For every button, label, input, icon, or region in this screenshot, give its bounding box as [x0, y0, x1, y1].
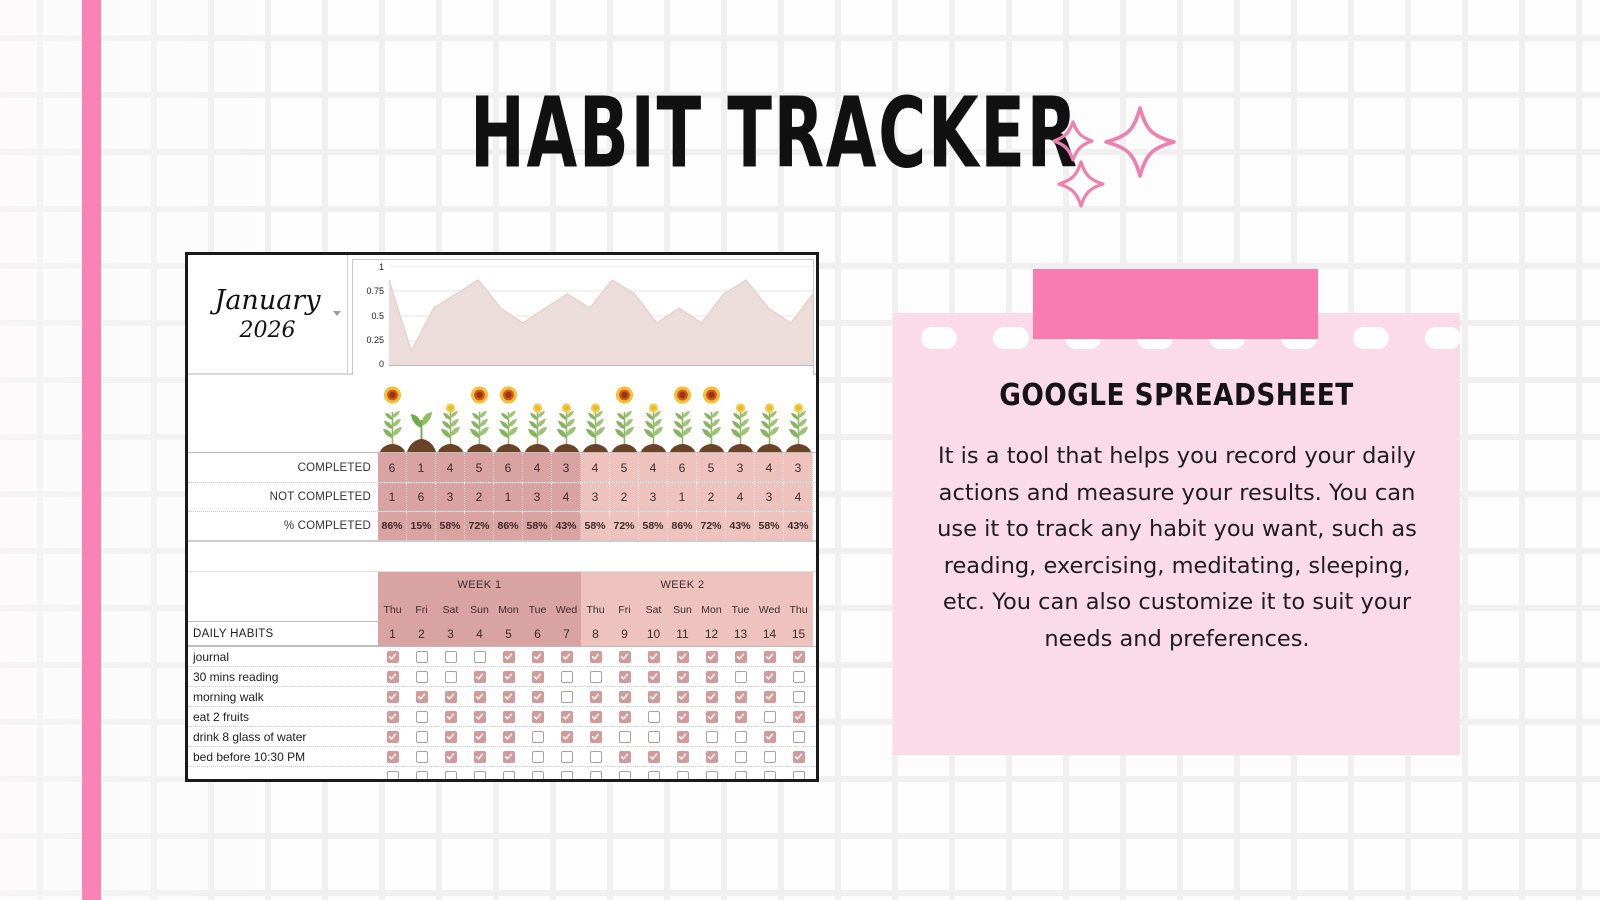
checkbox-checked-icon[interactable]	[503, 671, 515, 683]
habit-checkbox-cell[interactable]	[436, 707, 465, 726]
checkbox-checked-icon[interactable]	[619, 711, 631, 723]
day-number-cell: 11	[668, 621, 697, 646]
checkbox-checked-icon[interactable]	[764, 731, 776, 743]
habit-checkbox-cell[interactable]	[639, 767, 668, 782]
checkbox-unchecked-icon[interactable]	[764, 751, 776, 763]
checkbox-checked-icon[interactable]	[416, 691, 428, 703]
stats-cell-not-completed: 1	[378, 483, 407, 511]
habit-checkbox-cell[interactable]	[523, 687, 552, 706]
habit-checkbox-cell[interactable]	[378, 687, 407, 706]
habit-checkbox-cell[interactable]	[494, 667, 523, 686]
habit-checkbox-cell[interactable]	[697, 727, 726, 746]
stats-cell-not-completed: 1	[494, 483, 523, 511]
habit-checkbox-cell[interactable]	[407, 747, 436, 766]
habit-checkbox-cell[interactable]	[465, 727, 494, 746]
habit-checkbox-cell[interactable]	[523, 707, 552, 726]
habit-name[interactable]: drink 8 glass of water	[188, 727, 378, 746]
stats-row-percent: % COMPLETED 86%15%58%72%86%58%43%58%72%5…	[188, 511, 816, 540]
habit-checkbox-cell[interactable]	[668, 727, 697, 746]
checkbox-checked-icon[interactable]	[503, 731, 515, 743]
stats-cell-percent: 72%	[697, 512, 726, 540]
checkbox-checked-icon[interactable]	[532, 651, 544, 663]
habit-row[interactable]: drink 8 glass of water	[188, 727, 816, 747]
checkbox-unchecked-icon[interactable]	[445, 771, 457, 783]
habit-checkbox-cell[interactable]	[668, 747, 697, 766]
plant-bud-icon	[436, 386, 465, 452]
day-name-cell: Wed	[755, 598, 784, 621]
habit-checkbox-cell[interactable]	[610, 747, 639, 766]
habit-checkbox-cell[interactable]	[668, 687, 697, 706]
checkbox-checked-icon[interactable]	[619, 651, 631, 663]
habit-checkbox-cell[interactable]	[610, 767, 639, 782]
day-name-corner	[188, 598, 378, 621]
checkbox-checked-icon[interactable]	[619, 691, 631, 703]
checkbox-unchecked-icon[interactable]	[416, 751, 428, 763]
stats-cell-not-completed: 1	[668, 483, 697, 511]
habit-checkbox-cell[interactable]	[726, 767, 755, 782]
note-punch-hole	[993, 327, 1029, 349]
habit-checkbox-cell[interactable]	[697, 667, 726, 686]
habit-checkbox-cell[interactable]	[581, 647, 610, 666]
day-name-cell: Mon	[697, 598, 726, 621]
day-name-cell: Tue	[726, 598, 755, 621]
habit-checkbox-cell[interactable]	[552, 687, 581, 706]
habit-check-cells	[378, 707, 816, 726]
chevron-down-icon[interactable]	[333, 311, 341, 316]
checkbox-checked-icon[interactable]	[445, 691, 457, 703]
note-body-text: It is a tool that helps you record your …	[933, 438, 1421, 657]
day-number-cell: 6	[523, 621, 552, 646]
habit-checkbox-cell[interactable]	[523, 767, 552, 782]
checkbox-unchecked-icon[interactable]	[735, 751, 747, 763]
checkbox-checked-icon[interactable]	[706, 691, 718, 703]
day-number-row: DAILY HABITS 123456789101112131415	[188, 621, 816, 647]
habit-checkbox-cell[interactable]	[755, 667, 784, 686]
checkbox-unchecked-icon[interactable]	[387, 771, 399, 783]
habit-checkbox-cell[interactable]	[494, 647, 523, 666]
checkbox-checked-icon[interactable]	[735, 651, 747, 663]
habit-checkbox-cell[interactable]	[726, 707, 755, 726]
habit-checkbox-cell[interactable]	[697, 687, 726, 706]
checkbox-unchecked-icon[interactable]	[561, 671, 573, 683]
checkbox-unchecked-icon[interactable]	[735, 731, 747, 743]
checkbox-checked-icon[interactable]	[648, 671, 660, 683]
checkbox-unchecked-icon[interactable]	[706, 731, 718, 743]
stats-cell-percent: 43%	[726, 512, 755, 540]
day-name-cell: Thu	[784, 598, 813, 621]
checkbox-checked-icon[interactable]	[387, 711, 399, 723]
checkbox-unchecked-icon[interactable]	[416, 731, 428, 743]
slide-canvas: HABIT TRACKER January 2026 00.250.50.751	[0, 0, 1600, 900]
habit-row[interactable]	[188, 767, 816, 782]
habit-checkbox-cell[interactable]	[668, 707, 697, 726]
habit-checkbox-cell[interactable]	[755, 687, 784, 706]
habit-checkbox-cell[interactable]	[639, 647, 668, 666]
checkbox-unchecked-icon[interactable]	[445, 651, 457, 663]
habit-checkbox-cell[interactable]	[523, 727, 552, 746]
habit-checkbox-cell[interactable]	[784, 707, 813, 726]
checkbox-checked-icon[interactable]	[445, 731, 457, 743]
checkbox-unchecked-icon[interactable]	[590, 771, 602, 783]
checkbox-checked-icon[interactable]	[648, 691, 660, 703]
habit-row[interactable]: 30 mins reading	[188, 667, 816, 687]
checkbox-checked-icon[interactable]	[503, 711, 515, 723]
habit-checkbox-cell[interactable]	[378, 727, 407, 746]
checkbox-unchecked-icon[interactable]	[416, 711, 428, 723]
checkbox-unchecked-icon[interactable]	[561, 771, 573, 783]
day-number-cell: 14	[755, 621, 784, 646]
habit-checkbox-cell[interactable]	[552, 727, 581, 746]
day-number-cells: 123456789101112131415	[378, 621, 816, 646]
day-number-cell: 2	[407, 621, 436, 646]
checkbox-unchecked-icon[interactable]	[764, 711, 776, 723]
habit-name[interactable]: bed before 10:30 PM	[188, 747, 378, 766]
habit-checkbox-cell[interactable]	[465, 687, 494, 706]
day-number-cell: 13	[726, 621, 755, 646]
day-name-cell: Sat	[436, 598, 465, 621]
checkbox-checked-icon[interactable]	[793, 751, 805, 763]
stats-cell-not-completed: 4	[784, 483, 813, 511]
checkbox-checked-icon[interactable]	[387, 751, 399, 763]
stats-cell-not-completed: 2	[465, 483, 494, 511]
checkbox-unchecked-icon[interactable]	[474, 651, 486, 663]
habit-checkbox-cell[interactable]	[581, 727, 610, 746]
checkbox-checked-icon[interactable]	[677, 751, 689, 763]
stats-cell-completed: 3	[726, 453, 755, 482]
habit-checkbox-cell[interactable]	[552, 647, 581, 666]
checkbox-checked-icon[interactable]	[677, 711, 689, 723]
checkbox-checked-icon[interactable]	[764, 671, 776, 683]
habit-checkbox-cell[interactable]	[494, 707, 523, 726]
stats-label: % COMPLETED	[188, 512, 378, 540]
day-name-cell: Sat	[639, 598, 668, 621]
habit-checkbox-cell[interactable]	[407, 767, 436, 782]
plant-sunflower-icon	[465, 386, 494, 452]
habit-checkbox-cell[interactable]	[494, 687, 523, 706]
habit-checkbox-cell[interactable]	[552, 707, 581, 726]
checkbox-checked-icon[interactable]	[590, 691, 602, 703]
day-number-cell: 1	[378, 621, 407, 646]
habit-checkbox-cell[interactable]	[581, 767, 610, 782]
note-punch-hole	[1425, 327, 1461, 349]
habit-checkbox-cell[interactable]	[697, 747, 726, 766]
stats-cell-completed: 4	[436, 453, 465, 482]
habit-checkbox-cell[interactable]	[465, 647, 494, 666]
checkbox-unchecked-icon[interactable]	[561, 691, 573, 703]
habit-checkbox-cell[interactable]	[436, 767, 465, 782]
habit-check-cells	[378, 667, 816, 686]
habit-checkbox-cell[interactable]	[523, 667, 552, 686]
stats-cell-percent: 43%	[552, 512, 581, 540]
habit-checkbox-cell[interactable]	[465, 707, 494, 726]
checkbox-checked-icon[interactable]	[474, 691, 486, 703]
checkbox-checked-icon[interactable]	[706, 711, 718, 723]
habit-checkbox-cell[interactable]	[610, 687, 639, 706]
checkbox-checked-icon[interactable]	[474, 751, 486, 763]
stats-cell-percent: 72%	[465, 512, 494, 540]
habit-checkbox-cell[interactable]	[784, 747, 813, 766]
checkbox-unchecked-icon[interactable]	[532, 731, 544, 743]
checkbox-checked-icon[interactable]	[764, 651, 776, 663]
habit-name[interactable]: 30 mins reading	[188, 667, 378, 686]
habit-checkbox-cell[interactable]	[378, 667, 407, 686]
habit-checkbox-cell[interactable]	[726, 687, 755, 706]
checkbox-checked-icon[interactable]	[561, 731, 573, 743]
checkbox-checked-icon[interactable]	[503, 751, 515, 763]
checkbox-checked-icon[interactable]	[619, 751, 631, 763]
plant-sprout-icon	[407, 386, 436, 452]
checkbox-checked-icon[interactable]	[764, 691, 776, 703]
day-name-row: ThuFriSatSunMonTueWedThuFriSatSunMonTueW…	[188, 598, 816, 621]
habit-checkbox-cell[interactable]	[697, 767, 726, 782]
checkbox-unchecked-icon[interactable]	[503, 771, 515, 783]
habit-name[interactable]: eat 2 fruits	[188, 707, 378, 726]
checkbox-checked-icon[interactable]	[503, 691, 515, 703]
habit-checkbox-cell[interactable]	[784, 727, 813, 746]
habit-checkbox-cell[interactable]	[610, 707, 639, 726]
checkbox-checked-icon[interactable]	[706, 671, 718, 683]
checkbox-unchecked-icon[interactable]	[619, 731, 631, 743]
day-name-cell: Tue	[523, 598, 552, 621]
checkbox-unchecked-icon[interactable]	[561, 751, 573, 763]
day-number-cell: 10	[639, 621, 668, 646]
checkbox-unchecked-icon[interactable]	[416, 651, 428, 663]
chart-y-tick: 0.25	[366, 335, 384, 345]
checkbox-checked-icon[interactable]	[474, 711, 486, 723]
habit-checkbox-cell[interactable]	[436, 687, 465, 706]
habit-row[interactable]: eat 2 fruits	[188, 707, 816, 727]
checkbox-unchecked-icon[interactable]	[445, 671, 457, 683]
checkbox-unchecked-icon[interactable]	[793, 691, 805, 703]
habit-checkbox-cell[interactable]	[552, 667, 581, 686]
checkbox-checked-icon[interactable]	[677, 651, 689, 663]
checkbox-checked-icon[interactable]	[735, 691, 747, 703]
habit-name[interactable]: journal	[188, 647, 378, 666]
month-name: January	[215, 287, 321, 314]
day-name-cell: Fri	[407, 598, 436, 621]
stats-cell-percent: 86%	[494, 512, 523, 540]
daily-habits-table[interactable]: WEEK 1WEEK 2 ThuFriSatSunMonTueWedThuFri…	[188, 572, 816, 782]
checkbox-unchecked-icon[interactable]	[532, 771, 544, 783]
habit-checkbox-cell[interactable]	[436, 747, 465, 766]
habit-checkbox-cell[interactable]	[552, 767, 581, 782]
checkbox-unchecked-icon[interactable]	[793, 771, 805, 783]
habit-checkbox-cell[interactable]	[610, 727, 639, 746]
habit-check-cells	[378, 647, 816, 666]
habit-checkbox-cell[interactable]	[407, 687, 436, 706]
habit-checkbox-cell[interactable]	[378, 707, 407, 726]
checkbox-checked-icon[interactable]	[648, 651, 660, 663]
habit-checkbox-cell[interactable]	[581, 707, 610, 726]
habit-row[interactable]: morning walk	[188, 687, 816, 707]
plant-bud-icon	[552, 386, 581, 452]
chart-y-tick: 0	[379, 359, 384, 369]
checkbox-unchecked-icon[interactable]	[532, 751, 544, 763]
checkbox-checked-icon[interactable]	[445, 711, 457, 723]
habit-checkbox-cell[interactable]	[784, 767, 813, 782]
checkbox-unchecked-icon[interactable]	[793, 671, 805, 683]
habit-checkbox-cell[interactable]	[668, 647, 697, 666]
stats-cell-completed: 4	[639, 453, 668, 482]
habit-checkbox-cell[interactable]	[639, 667, 668, 686]
habit-checkbox-cell[interactable]	[407, 667, 436, 686]
habit-checkbox-cell[interactable]	[436, 667, 465, 686]
habit-checkbox-cell[interactable]	[639, 727, 668, 746]
habit-checkbox-cell[interactable]	[465, 747, 494, 766]
habit-checkbox-cell[interactable]	[784, 667, 813, 686]
checkbox-checked-icon[interactable]	[590, 731, 602, 743]
checkbox-unchecked-icon[interactable]	[648, 731, 660, 743]
habit-checkbox-cell[interactable]	[378, 647, 407, 666]
washi-tape	[1033, 269, 1318, 339]
checkbox-checked-icon[interactable]	[445, 751, 457, 763]
checkbox-unchecked-icon[interactable]	[735, 671, 747, 683]
stats-cell-not-completed: 4	[726, 483, 755, 511]
week-header-corner	[188, 572, 378, 598]
habit-check-cells	[378, 727, 816, 746]
checkbox-unchecked-icon[interactable]	[590, 751, 602, 763]
habit-checkbox-cell[interactable]	[581, 747, 610, 766]
stats-cell-completed: 3	[784, 453, 813, 482]
checkbox-unchecked-icon[interactable]	[793, 731, 805, 743]
stats-cell-percent: 43%	[784, 512, 813, 540]
habit-checkbox-cell[interactable]	[436, 647, 465, 666]
spreadsheet-card[interactable]: January 2026 00.250.50.751 COMPLETED 614…	[185, 252, 819, 782]
habit-row[interactable]: journal	[188, 647, 816, 667]
habit-checkbox-cell[interactable]	[668, 767, 697, 782]
checkbox-checked-icon[interactable]	[474, 731, 486, 743]
stats-cell-percent: 86%	[378, 512, 407, 540]
checkbox-unchecked-icon[interactable]	[764, 771, 776, 783]
checkbox-checked-icon[interactable]	[677, 671, 689, 683]
stats-label: COMPLETED	[188, 453, 378, 482]
checkbox-checked-icon[interactable]	[793, 651, 805, 663]
habit-checkbox-cell[interactable]	[755, 707, 784, 726]
habit-checkbox-cell[interactable]	[465, 667, 494, 686]
checkbox-checked-icon[interactable]	[387, 731, 399, 743]
habit-checkbox-cell[interactable]	[784, 687, 813, 706]
completion-area-chart[interactable]: 00.250.50.751	[352, 259, 814, 377]
checkbox-checked-icon[interactable]	[735, 711, 747, 723]
checkbox-checked-icon[interactable]	[474, 671, 486, 683]
checkbox-checked-icon[interactable]	[706, 651, 718, 663]
habit-checkbox-cell[interactable]	[726, 667, 755, 686]
habit-checkbox-cell[interactable]	[755, 727, 784, 746]
habit-checkbox-cell[interactable]	[639, 747, 668, 766]
note-punch-hole	[921, 327, 957, 349]
habit-checkbox-cell[interactable]	[465, 767, 494, 782]
checkbox-checked-icon[interactable]	[561, 711, 573, 723]
habit-checkbox-cell[interactable]	[784, 647, 813, 666]
stats-cell-not-completed: 6	[407, 483, 436, 511]
day-name-cells: ThuFriSatSunMonTueWedThuFriSatSunMonTueW…	[378, 598, 816, 621]
plant-bud-icon	[784, 386, 813, 452]
habit-name[interactable]	[188, 767, 378, 782]
habit-checkbox-cell[interactable]	[668, 667, 697, 686]
checkbox-unchecked-icon[interactable]	[648, 711, 660, 723]
habit-name[interactable]: morning walk	[188, 687, 378, 706]
stats-cell-not-completed: 2	[697, 483, 726, 511]
checkbox-checked-icon[interactable]	[387, 671, 399, 683]
habit-checkbox-cell[interactable]	[523, 747, 552, 766]
habit-checkbox-cell[interactable]	[523, 647, 552, 666]
habit-checkbox-cell[interactable]	[610, 667, 639, 686]
habit-checkbox-cell[interactable]	[407, 727, 436, 746]
checkbox-checked-icon[interactable]	[532, 691, 544, 703]
checkbox-checked-icon[interactable]	[590, 711, 602, 723]
habit-row[interactable]: bed before 10:30 PM	[188, 747, 816, 767]
day-number-cell: 4	[465, 621, 494, 646]
habit-checkbox-cell[interactable]	[494, 747, 523, 766]
habit-checkbox-cell[interactable]	[494, 727, 523, 746]
stats-cell-completed: 4	[581, 453, 610, 482]
habit-checkbox-cell[interactable]	[726, 747, 755, 766]
checkbox-checked-icon[interactable]	[387, 651, 399, 663]
habit-checkbox-cell[interactable]	[755, 747, 784, 766]
habit-checkbox-cell[interactable]	[726, 647, 755, 666]
checkbox-checked-icon[interactable]	[532, 711, 544, 723]
checkbox-checked-icon[interactable]	[590, 651, 602, 663]
checkbox-checked-icon[interactable]	[561, 651, 573, 663]
habit-checkbox-cell[interactable]	[407, 707, 436, 726]
habit-checkbox-cell[interactable]	[378, 747, 407, 766]
habit-checkbox-cell[interactable]	[755, 647, 784, 666]
stats-cell-not-completed: 2	[610, 483, 639, 511]
stats-cell-percent: 58%	[639, 512, 668, 540]
checkbox-unchecked-icon[interactable]	[706, 771, 718, 783]
checkbox-unchecked-icon[interactable]	[590, 671, 602, 683]
habit-checkbox-cell[interactable]	[436, 727, 465, 746]
habit-checkbox-cell[interactable]	[697, 707, 726, 726]
habit-checkbox-cell[interactable]	[407, 647, 436, 666]
stats-cell-not-completed: 3	[523, 483, 552, 511]
habit-checkbox-cell[interactable]	[639, 687, 668, 706]
habit-checkbox-cell[interactable]	[639, 707, 668, 726]
checkbox-checked-icon[interactable]	[793, 711, 805, 723]
checkbox-checked-icon[interactable]	[706, 751, 718, 763]
habit-checkbox-cell[interactable]	[755, 767, 784, 782]
habit-checkbox-cell[interactable]	[610, 647, 639, 666]
stats-cell-percent: 58%	[523, 512, 552, 540]
checkbox-unchecked-icon[interactable]	[735, 771, 747, 783]
habit-checkbox-cell[interactable]	[581, 687, 610, 706]
checkbox-unchecked-icon[interactable]	[677, 771, 689, 783]
month-selector[interactable]: January 2026	[188, 255, 348, 373]
habit-checkbox-cell[interactable]	[552, 747, 581, 766]
checkbox-unchecked-icon[interactable]	[619, 771, 631, 783]
habit-checkbox-cell[interactable]	[726, 727, 755, 746]
stats-cell-not-completed: 3	[581, 483, 610, 511]
checkbox-checked-icon[interactable]	[532, 671, 544, 683]
habit-checkbox-cell[interactable]	[697, 647, 726, 666]
checkbox-checked-icon[interactable]	[677, 731, 689, 743]
habit-checkbox-cell[interactable]	[378, 767, 407, 782]
checkbox-unchecked-icon[interactable]	[648, 771, 660, 783]
checkbox-checked-icon[interactable]	[677, 691, 689, 703]
checkbox-checked-icon[interactable]	[619, 671, 631, 683]
habit-check-cells	[378, 767, 816, 782]
checkbox-checked-icon[interactable]	[503, 651, 515, 663]
checkbox-checked-icon[interactable]	[387, 691, 399, 703]
checkbox-unchecked-icon[interactable]	[416, 771, 428, 783]
habit-checkbox-cell[interactable]	[581, 667, 610, 686]
checkbox-unchecked-icon[interactable]	[474, 771, 486, 783]
checkbox-checked-icon[interactable]	[648, 751, 660, 763]
habit-checkbox-cell[interactable]	[494, 767, 523, 782]
checkbox-unchecked-icon[interactable]	[416, 671, 428, 683]
daily-habits-label: DAILY HABITS	[188, 621, 378, 646]
day-number-cell: 7	[552, 621, 581, 646]
